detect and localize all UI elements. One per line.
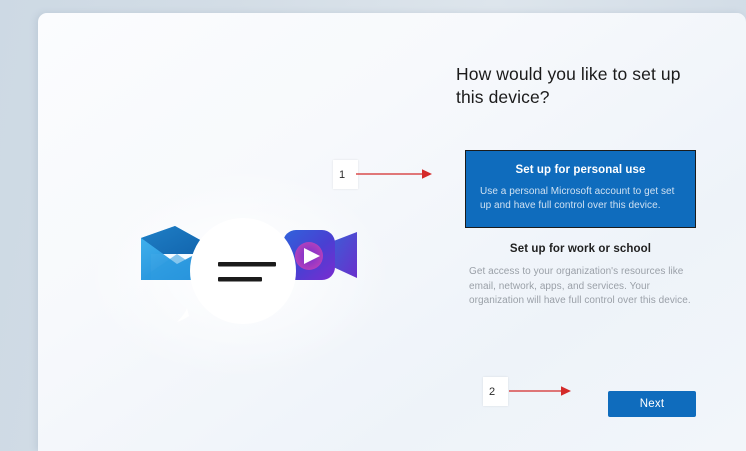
oobe-panel: How would you like to set up this device… — [38, 13, 746, 451]
windows-oobe-screen: How would you like to set up this device… — [0, 0, 746, 451]
option-personal-description: Use a personal Microsoft account to get … — [480, 185, 681, 213]
option-work-title: Set up for work or school — [469, 242, 692, 257]
annotation-label-2: 2 — [483, 377, 508, 406]
annotation-arrow-1 — [356, 167, 432, 181]
next-button[interactable]: Next — [608, 391, 696, 417]
set-up-for-personal-use-option[interactable]: Set up for personal use Use a personal M… — [465, 150, 696, 228]
set-up-for-work-or-school-option[interactable]: Set up for work or school Get access to … — [465, 242, 696, 309]
content-column: How would you like to set up this device… — [456, 63, 704, 109]
option-work-description: Get access to your organization's resour… — [469, 265, 692, 309]
speech-bubble-icon — [177, 218, 296, 324]
page-title: How would you like to set up this device… — [456, 63, 701, 109]
communication-apps-illustration — [133, 216, 368, 331]
annotation-arrow-2 — [509, 384, 571, 398]
option-personal-title: Set up for personal use — [480, 163, 681, 178]
annotation-label-1: 1 — [333, 160, 358, 189]
